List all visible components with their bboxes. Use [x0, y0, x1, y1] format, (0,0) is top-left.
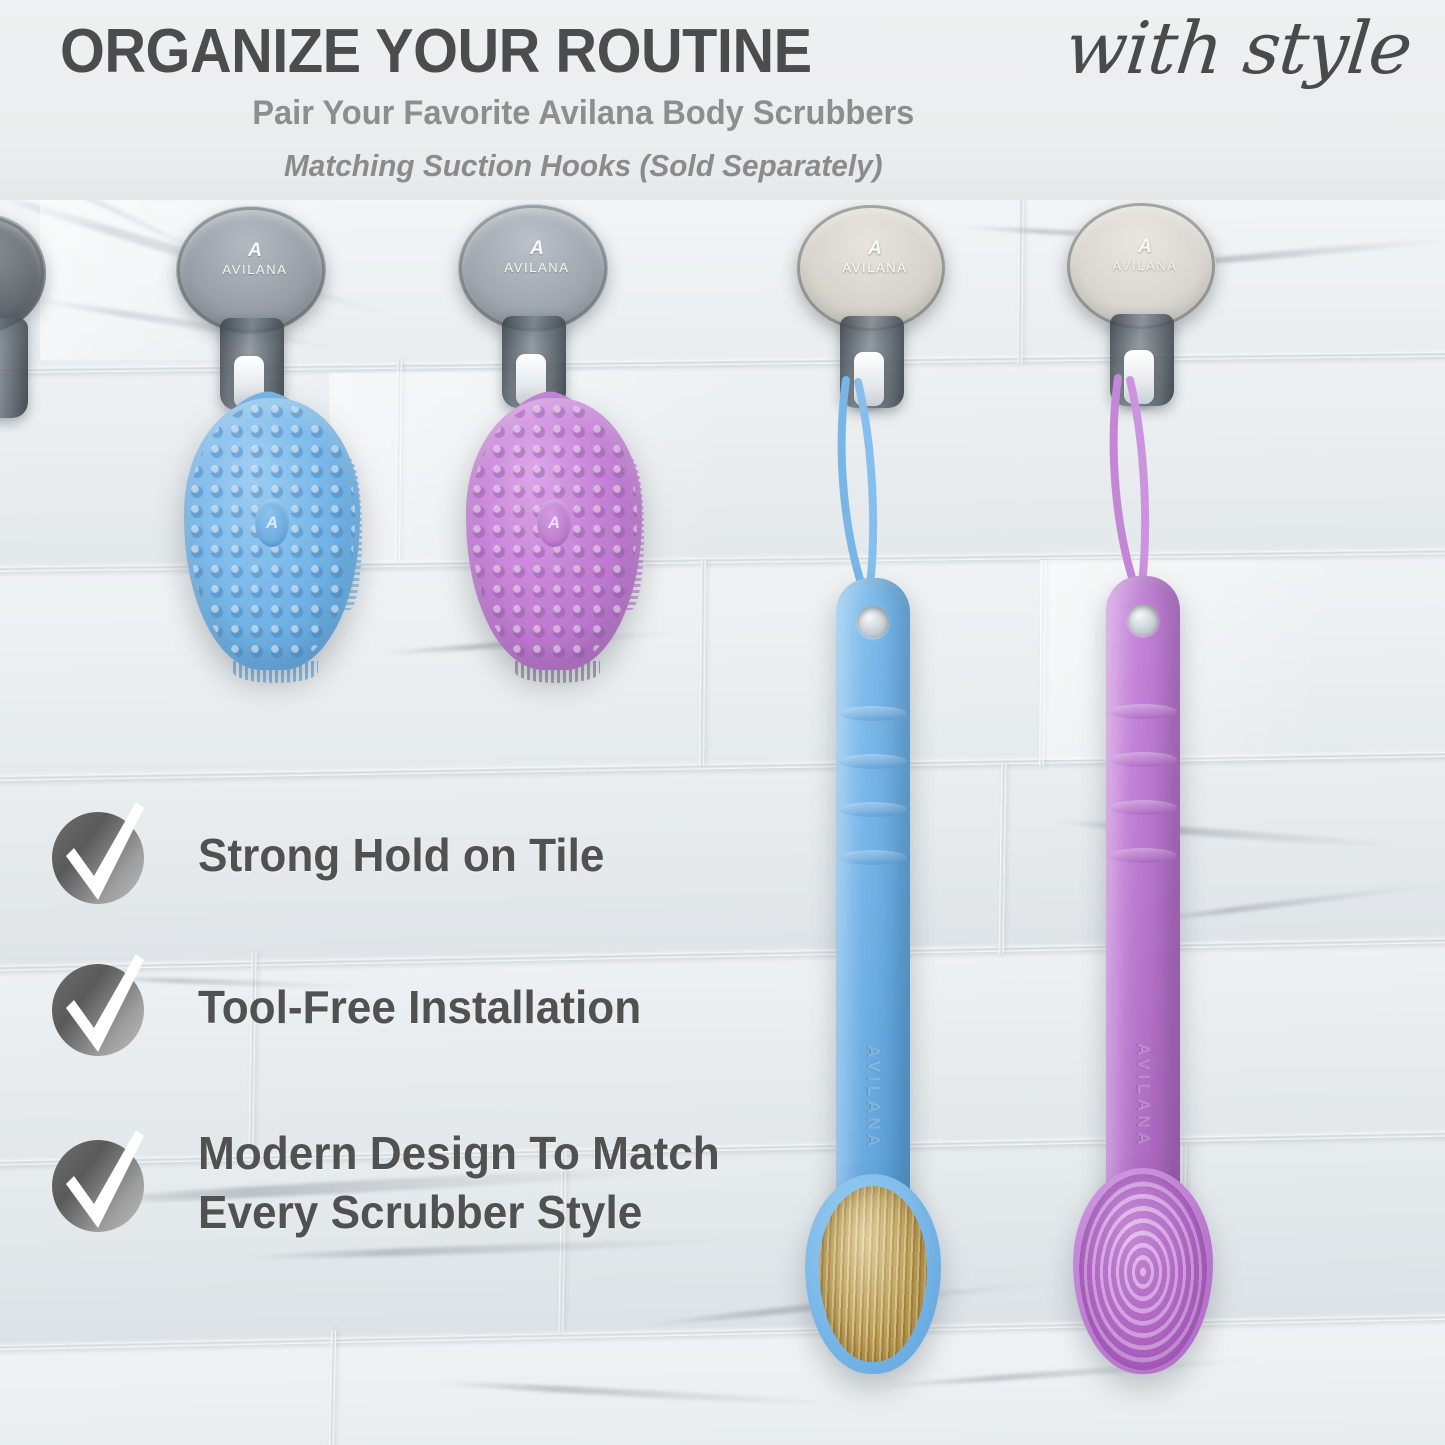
script-accent-text: with style	[1062, 6, 1416, 90]
brush-purple-handle-text: AVILANA	[1133, 1043, 1153, 1149]
subtitle-secondary: Matching Suction Hooks (Sold Separately)	[29, 148, 1416, 184]
long-handle-brush-blue: AVILANA	[836, 578, 910, 1278]
avilana-logo-mark: A	[1066, 236, 1224, 258]
check-icon	[44, 952, 154, 1062]
page-title: ORGANIZE YOUR ROUTINE	[60, 16, 812, 87]
pad-scrubber-purple: A	[466, 398, 642, 670]
brush-blue-boar-bristles	[819, 1186, 927, 1362]
subtitle-primary: Pair Your Favorite Avilana Body Scrubber…	[29, 94, 1416, 133]
feature-label-2: Tool-Free Installation	[198, 978, 641, 1037]
avilana-logo-mark: A	[176, 240, 334, 262]
feature-item-2: Tool-Free Installation	[44, 952, 660, 1062]
feature-item-3: Modern Design To Match Every Scrubber St…	[44, 1124, 742, 1242]
check-icon	[44, 800, 154, 910]
brush-purple-silicone-bristles	[1079, 1174, 1207, 1370]
feature-item-1: Strong Hold on Tile	[44, 800, 621, 910]
brush-blue-handle-text: AVILANA	[863, 1045, 883, 1151]
header-banner: ORGANIZE YOUR ROUTINE with style Pair Yo…	[0, 0, 1445, 200]
feature-label-3: Modern Design To Match Every Scrubber St…	[198, 1124, 720, 1242]
check-glyph	[44, 800, 154, 910]
check-glyph	[44, 1128, 154, 1238]
avilana-logo-mark: A	[458, 238, 616, 260]
pad-purple-logo-badge: A	[537, 499, 571, 547]
pad-blue-logo-badge: A	[255, 499, 289, 547]
pad-scrubber-blue: A	[184, 398, 360, 670]
feature-label-1: Strong Hold on Tile	[198, 826, 604, 885]
long-handle-brush-purple: AVILANA	[1106, 576, 1180, 1276]
suction-hook-partial-left	[0, 214, 54, 444]
product-image-stage: A AVILANA A AVILANA A AVILANA A	[0, 0, 1445, 1445]
check-glyph	[44, 952, 154, 1062]
avilana-logo-mark: A	[796, 238, 954, 260]
check-icon	[44, 1128, 154, 1238]
